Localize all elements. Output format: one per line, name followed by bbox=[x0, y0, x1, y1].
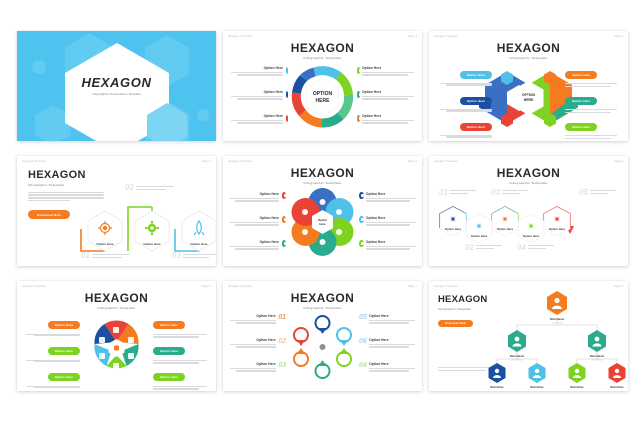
option-icon bbox=[286, 115, 289, 122]
three-steps-graphic: Option Here Option Here Option Here bbox=[17, 156, 216, 266]
step-label-3: Option Here bbox=[190, 242, 207, 246]
option-item-6[interactable]: Option Here bbox=[153, 365, 210, 391]
option-item-6[interactable]: Option Here bbox=[359, 240, 416, 251]
step-caption-3: 03 bbox=[491, 189, 528, 197]
step-label-5: Option Here bbox=[549, 227, 566, 231]
pin-circles-graphic bbox=[223, 281, 422, 391]
option-number: 04 bbox=[359, 362, 367, 370]
step-caption-2: 02 bbox=[125, 184, 174, 192]
center-label-line1: OPTION bbox=[313, 91, 333, 97]
option-label: Option Here bbox=[362, 114, 414, 118]
center-label-line2: HERE bbox=[524, 98, 534, 102]
option-item-1[interactable]: Option Here bbox=[23, 313, 80, 338]
step-caption-1: 01 bbox=[439, 189, 476, 197]
step-label-1: Option Here bbox=[96, 242, 113, 246]
cover-subtitle: Infographics Presentation Template bbox=[17, 93, 216, 96]
center-label-line2: HERE bbox=[316, 98, 331, 104]
step-number-2: 02 bbox=[125, 184, 134, 192]
option-item-4[interactable]: 05 Option Here bbox=[359, 314, 416, 325]
slide-deck: HEXAGON Infographics Presentation Templa… bbox=[0, 0, 632, 421]
option-number: 03 bbox=[278, 362, 286, 370]
center-label-line2: Here bbox=[319, 222, 326, 226]
step-caption-2: 02 bbox=[465, 244, 502, 252]
slide-interlock-hexagons[interactable]: Hexagon Template Page 2 HEXAGON Infograp… bbox=[429, 31, 628, 141]
option-pill: Option Here bbox=[48, 347, 80, 354]
step-number-1: 01 bbox=[439, 189, 448, 197]
node-name-2: Nick Name bbox=[590, 354, 605, 358]
node-role-2: Your Position bbox=[591, 359, 603, 362]
option-pill: Option Here bbox=[153, 321, 185, 328]
step-number-5: 05 bbox=[579, 189, 588, 197]
node-name-4: Nick Name bbox=[530, 385, 544, 389]
option-item-2[interactable]: Option Here 02 bbox=[229, 338, 286, 349]
option-item-5[interactable]: Option Here bbox=[359, 216, 416, 227]
option-pill: Option Here bbox=[153, 373, 185, 380]
step-caption-4: 04 bbox=[517, 244, 554, 252]
option-icon bbox=[359, 192, 364, 199]
option-label: Option Here bbox=[369, 314, 415, 318]
node-name-5: Nick Name bbox=[570, 385, 584, 389]
option-label: Option Here bbox=[366, 192, 416, 196]
option-icon bbox=[357, 91, 360, 98]
option-item-5[interactable]: Option Here bbox=[153, 339, 210, 365]
option-pill: Option Here bbox=[48, 321, 80, 328]
option-number: 02 bbox=[278, 338, 286, 346]
slide-petal-circles[interactable]: Hexagon Template Page 4 HEXAGON Infograp… bbox=[223, 156, 422, 266]
option-label: Option Here bbox=[231, 90, 283, 94]
step-number-2: 02 bbox=[465, 244, 474, 252]
option-icon bbox=[282, 216, 287, 223]
option-label: Option Here bbox=[362, 90, 414, 94]
option-label: Option Here bbox=[366, 216, 416, 220]
center-label-line1: OPTION bbox=[522, 93, 536, 97]
option-icon bbox=[357, 67, 360, 74]
step-label-4: Option Here bbox=[523, 234, 540, 238]
slide-org-chart[interactable]: Hexagon Template Page 8 HEXAGON Infograp… bbox=[429, 281, 628, 391]
option-pill: Option Here bbox=[565, 123, 597, 130]
step-label-2: Option Here bbox=[471, 234, 488, 238]
option-label: Option Here bbox=[229, 192, 279, 196]
option-pill: Option Here bbox=[460, 123, 492, 130]
option-item-3[interactable]: Option Here bbox=[23, 365, 80, 390]
slide-cover[interactable]: HEXAGON Infographics Presentation Templa… bbox=[17, 31, 216, 141]
option-item-3[interactable]: Option Here bbox=[229, 240, 286, 251]
option-item-2[interactable]: Option Here bbox=[229, 216, 286, 227]
step-number-1: 01 bbox=[81, 252, 90, 260]
option-number: 01 bbox=[278, 314, 286, 322]
org-chart-graphic: Nick Name Your Position Nick Name Your P… bbox=[429, 281, 628, 391]
option-item-3[interactable]: Option Here 03 bbox=[229, 362, 286, 373]
option-label: Option Here bbox=[229, 240, 279, 244]
option-item-3[interactable]: Option Here bbox=[231, 114, 288, 125]
node-role-1: Your Position bbox=[511, 359, 523, 362]
slide-three-hex-steps[interactable]: Hexagon Template Page 3 HEXAGON Infograp… bbox=[17, 156, 216, 266]
slide-petal-hex-pills[interactable]: Hexagon Template Page 6 HEXAGON Infograp… bbox=[17, 281, 216, 391]
option-item-4[interactable]: Option Here bbox=[153, 313, 210, 339]
option-icon bbox=[286, 91, 289, 98]
option-icon bbox=[282, 192, 287, 199]
option-pill: Option Here bbox=[460, 71, 492, 78]
option-label: Option Here bbox=[366, 240, 416, 244]
option-number: 05 bbox=[359, 314, 367, 322]
option-item-6[interactable]: Option Here bbox=[565, 115, 622, 141]
node-role-0: Your Position bbox=[551, 322, 563, 325]
option-item-6[interactable]: Option Here bbox=[357, 114, 414, 125]
step-label-1: Option Here bbox=[445, 227, 462, 231]
option-icon bbox=[282, 240, 287, 247]
option-label: Option Here bbox=[362, 66, 414, 70]
option-pill: Option Here bbox=[565, 97, 597, 104]
option-item-2[interactable]: Option Here bbox=[435, 89, 492, 113]
option-label: Option Here bbox=[230, 314, 276, 318]
option-item-5[interactable]: Option Here bbox=[565, 89, 622, 115]
node-name-1: Nick Name bbox=[510, 354, 525, 358]
option-number: 06 bbox=[359, 338, 367, 346]
cover-title: HEXAGON bbox=[17, 75, 216, 90]
step-number-4: 04 bbox=[517, 244, 526, 252]
slide-pin-circles[interactable]: Hexagon Template Page 7 HEXAGON Infograp… bbox=[223, 281, 422, 391]
slide-zigzag-five[interactable]: Hexagon Template Page 5 HEXAGON Infograp… bbox=[429, 156, 628, 266]
option-label: Option Here bbox=[231, 114, 283, 118]
option-item-5[interactable]: 06 Option Here bbox=[359, 338, 416, 349]
option-icon bbox=[357, 115, 360, 122]
node-name-0: Nick Name bbox=[550, 317, 565, 321]
slide-segmented-ring[interactable]: Hexagon Template Page 1 HEXAGON Infograp… bbox=[223, 31, 422, 141]
option-item-5[interactable]: Option Here bbox=[357, 90, 414, 101]
option-icon bbox=[286, 67, 289, 74]
option-icon bbox=[359, 240, 364, 247]
option-item-2[interactable]: Option Here bbox=[23, 339, 80, 364]
option-item-2[interactable]: Option Here bbox=[231, 90, 288, 101]
option-item-4[interactable]: Option Here bbox=[359, 192, 416, 203]
option-item-4[interactable]: Option Here bbox=[357, 66, 414, 77]
option-pill: Option Here bbox=[565, 71, 597, 78]
option-item-3[interactable]: Option Here bbox=[435, 115, 492, 139]
option-label: Option Here bbox=[369, 338, 415, 342]
step-number-3: 03 bbox=[491, 189, 500, 197]
option-pill: Option Here bbox=[460, 97, 492, 104]
option-label: Option Here bbox=[230, 362, 276, 366]
option-icon bbox=[359, 216, 364, 223]
node-name-3: Nick Name bbox=[490, 385, 504, 389]
option-label: Option Here bbox=[229, 216, 279, 220]
option-pill: Option Here bbox=[153, 347, 185, 354]
option-item-1[interactable]: Option Here bbox=[435, 63, 492, 87]
option-pill: Option Here bbox=[48, 373, 80, 380]
option-item-1[interactable]: Option Here bbox=[231, 66, 288, 77]
step-caption-1: 01 bbox=[81, 252, 130, 260]
cover-title-block: HEXAGON Infographics Presentation Templa… bbox=[17, 75, 216, 96]
option-item-6[interactable]: 04 Option Here bbox=[359, 362, 416, 373]
option-label: Option Here bbox=[230, 338, 276, 342]
option-label: Option Here bbox=[369, 362, 415, 366]
step-caption-3: 03 bbox=[172, 252, 216, 260]
option-item-1[interactable]: Option Here bbox=[229, 192, 286, 203]
node-name-6: Nick Name bbox=[610, 385, 624, 389]
option-item-4[interactable]: Option Here bbox=[565, 63, 622, 89]
step-number-3: 03 bbox=[172, 252, 181, 260]
option-label: Option Here bbox=[231, 66, 283, 70]
option-item-1[interactable]: Option Here 01 bbox=[229, 314, 286, 325]
step-label-2: Option Here bbox=[143, 242, 160, 246]
step-caption-5: 05 bbox=[579, 189, 616, 197]
step-label-3: Option Here bbox=[497, 227, 514, 231]
